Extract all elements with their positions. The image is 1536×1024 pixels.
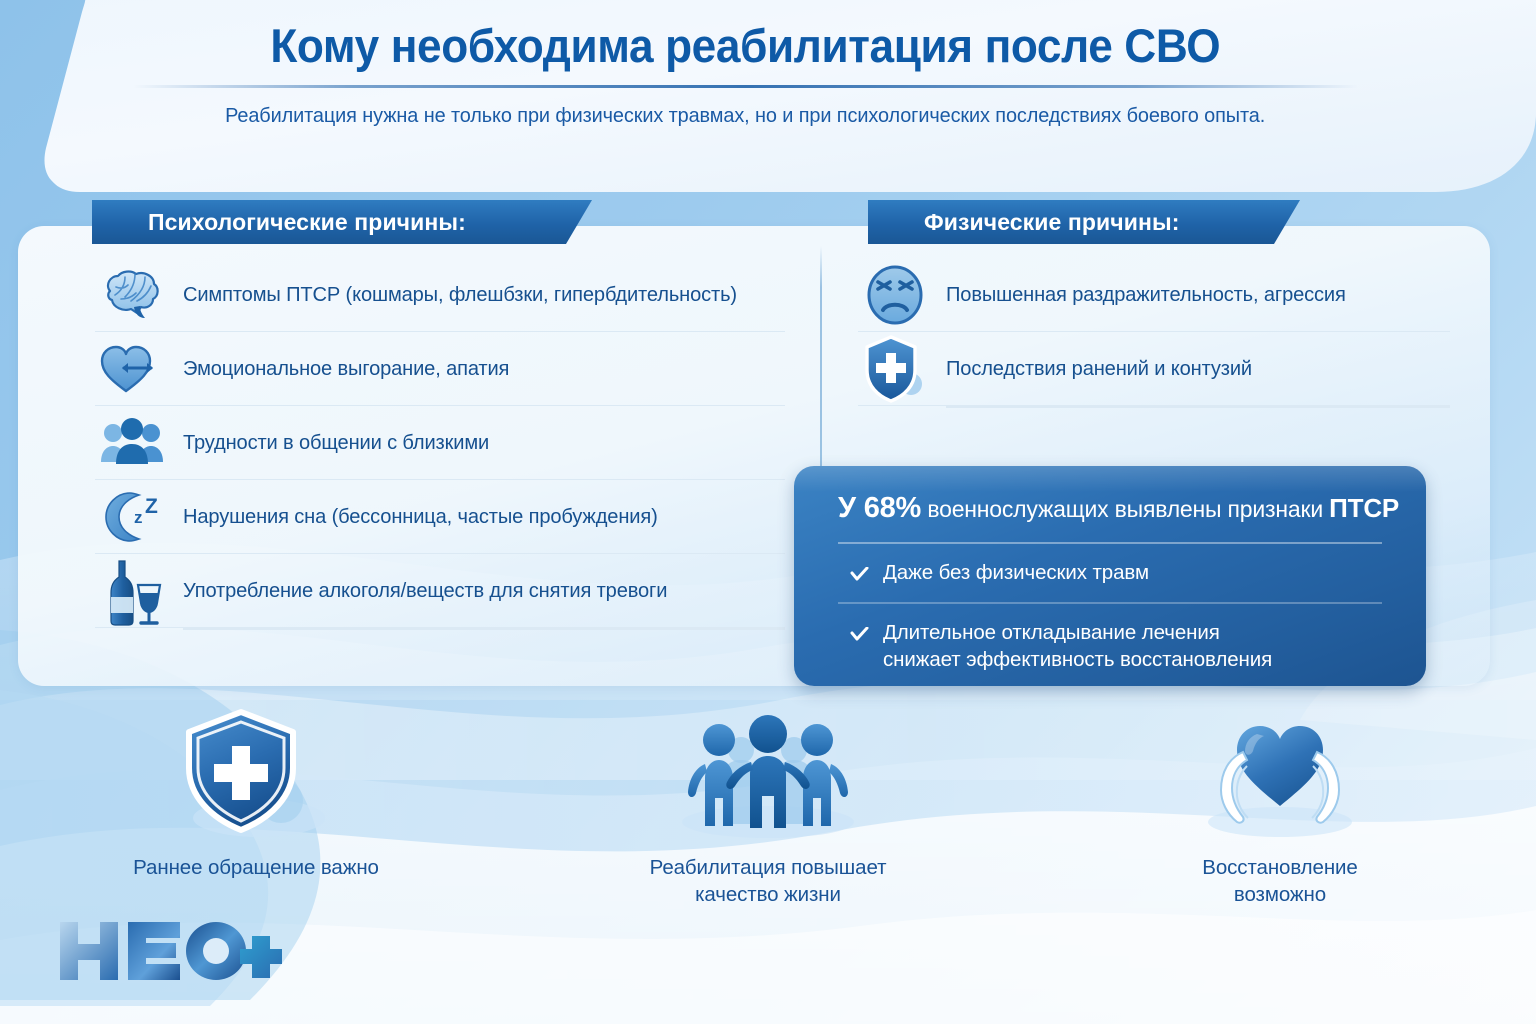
statistic-prefix: У xyxy=(838,492,864,524)
brain-icon xyxy=(95,269,169,321)
psychological-items-list: Симптомы ПТСР (кошмары, флешбзки, гиперб… xyxy=(95,258,785,630)
feature-recovery-possible: Восстановление возможно xyxy=(1024,706,1536,908)
feature-early-treatment: Раннее обращение важно xyxy=(0,706,512,908)
svg-text:Z: Z xyxy=(145,495,158,518)
statistic-suffix: ПТСР xyxy=(1329,493,1399,523)
statistic-percent: 68% xyxy=(864,492,921,524)
list-item: Употребление алкоголя/веществ для снятия… xyxy=(95,554,785,628)
statistic-bullet: Даже без физических травм xyxy=(850,559,1382,590)
list-item: z Z Нарушения сна (бессонница, частые пр… xyxy=(95,480,785,554)
header-panel: Кому необходима реабилитация после СВО Р… xyxy=(0,0,1490,175)
shield-cross-icon xyxy=(858,334,932,404)
people-group-icon xyxy=(95,418,169,468)
infographic-poster: Кому необходима реабилитация после СВО Р… xyxy=(0,0,1536,1024)
banner-label: Психологические причины: xyxy=(148,209,466,236)
statistic-bullet-text: Длительное откладывание лечения снижает … xyxy=(883,619,1272,674)
list-bottom-rule xyxy=(183,628,785,630)
list-item-label: Последствия ранений и контузий xyxy=(946,357,1252,381)
list-item: Эмоциональное выгорание, апатия xyxy=(95,332,785,406)
moon-sleep-icon: z Z xyxy=(95,489,169,545)
page-subtitle: Реабилитация нужна не только при физичес… xyxy=(225,104,1265,128)
statistic-panel: У 68% военнослужащих выявлены признаки П… xyxy=(794,466,1426,686)
statistic-headline: У 68% военнослужащих выявлены признаки П… xyxy=(838,492,1392,525)
features-row: Раннее обращение важно xyxy=(0,706,1536,908)
list-item-label: Употребление алкоголя/веществ для снятия… xyxy=(183,579,667,603)
svg-text:z: z xyxy=(134,508,143,527)
check-icon xyxy=(850,622,869,650)
people-team-icon xyxy=(663,706,873,838)
shield-cross-icon xyxy=(181,706,331,838)
hands-heart-icon xyxy=(1185,706,1375,838)
list-item-label: Эмоциональное выгорание, апатия xyxy=(183,357,509,381)
banner-label: Физические причины: xyxy=(924,209,1179,236)
list-item-label: Симптомы ПТСР (кошмары, флешбзки, гиперб… xyxy=(183,283,737,307)
list-item: Трудности в общении с близкими xyxy=(95,406,785,480)
list-item-label: Трудности в общении с близкими xyxy=(183,431,489,455)
angry-face-icon xyxy=(858,264,932,326)
bottle-glass-icon xyxy=(95,555,169,627)
list-bottom-rule xyxy=(946,406,1450,408)
statistic-bullet-text: Даже без физических травм xyxy=(883,559,1149,587)
list-item: Симптомы ПТСР (кошмары, флешбзки, гиперб… xyxy=(95,258,785,332)
list-item-label: Повышенная раздражительность, агрессия xyxy=(946,283,1346,307)
title-divider xyxy=(133,85,1358,88)
check-icon xyxy=(850,562,869,590)
banner-psychological-causes: Психологические причины: xyxy=(92,200,592,244)
statistic-middle-text: военнослужащих выявлены признаки xyxy=(921,496,1329,522)
feature-caption: Восстановление возможно xyxy=(1202,854,1357,908)
list-item: Повышенная раздражительность, агрессия xyxy=(858,258,1450,332)
feature-caption: Раннее обращение важно xyxy=(133,854,379,881)
brand-logo: НЕО+ xyxy=(56,916,282,991)
list-item: Последствия ранений и контузий xyxy=(858,332,1450,406)
banner-physical-causes: Физические причины: xyxy=(868,200,1300,244)
feature-quality-of-life: Реабилитация повышает качество жизни xyxy=(512,706,1024,908)
feature-caption: Реабилитация повышает качество жизни xyxy=(650,854,887,908)
statistic-divider xyxy=(838,542,1382,544)
page-title: Кому необходима реабилитация после СВО xyxy=(270,18,1220,73)
heart-arrow-icon xyxy=(95,341,169,397)
statistic-bullet: Длительное откладывание лечения снижает … xyxy=(850,619,1382,674)
statistic-bullet-divider xyxy=(838,602,1382,604)
physical-items-list: Повышенная раздражительность, агрессия П… xyxy=(858,258,1450,408)
list-item-label: Нарушения сна (бессонница, частые пробуж… xyxy=(183,505,658,529)
